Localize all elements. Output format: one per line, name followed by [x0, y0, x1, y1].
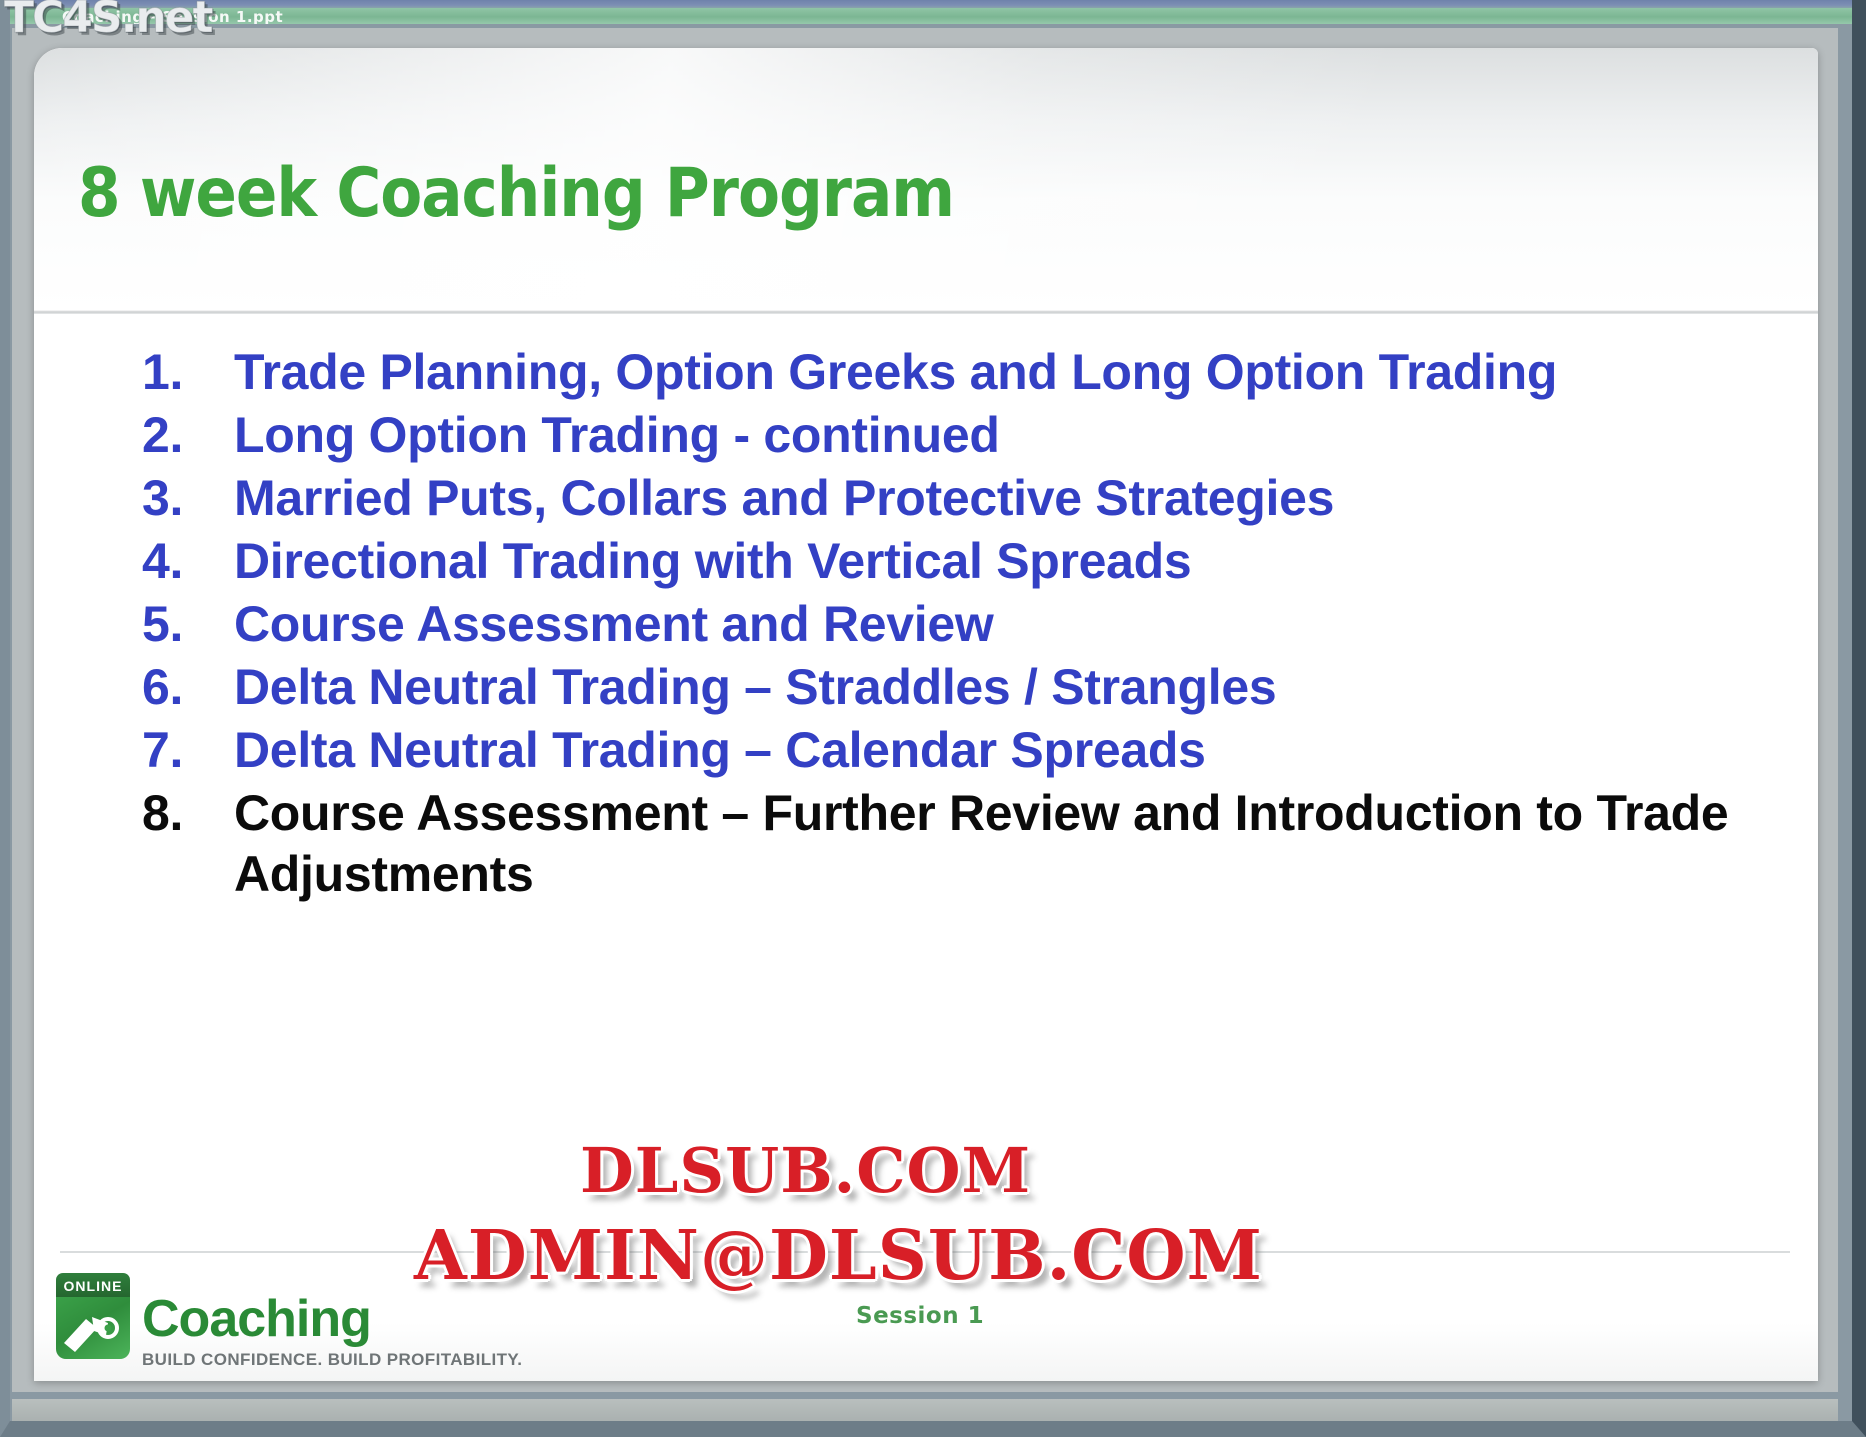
- watermark-email: ADMIN@DLSUB.COM: [414, 1216, 1263, 1296]
- slide-bottom-strip: [12, 1399, 1838, 1421]
- whistle-glyph: [56, 1297, 130, 1359]
- coaching-logo-icon: ONLINE: [56, 1273, 130, 1359]
- agenda-item-number: 2.: [142, 405, 234, 466]
- agenda-item-text: Married Puts, Collars and Protective Str…: [234, 468, 1762, 529]
- logo-whistle-icon: [56, 1297, 130, 1359]
- slide-title: 8 week Coaching Program: [78, 154, 954, 233]
- presentation-window: Coaching - Session 1.ppt TC4S.net 8 week…: [0, 0, 1866, 1437]
- agenda-item-number: 7.: [142, 720, 234, 781]
- agenda-item-number: 6.: [142, 657, 234, 718]
- agenda-item-number: 3.: [142, 468, 234, 529]
- agenda-item-number: 1.: [142, 342, 234, 403]
- agenda-item-number: 4.: [142, 531, 234, 592]
- agenda-item: 7.Delta Neutral Trading – Calendar Sprea…: [142, 720, 1762, 781]
- agenda-item-text: Directional Trading with Vertical Spread…: [234, 531, 1762, 592]
- agenda-item: 6.Delta Neutral Trading – Straddles / St…: [142, 657, 1762, 718]
- agenda-item-text: Course Assessment – Further Review and I…: [234, 783, 1762, 905]
- brand-name: Coaching: [142, 1293, 522, 1345]
- site-watermark: TC4S.net: [4, 0, 212, 43]
- agenda-item: 5.Course Assessment and Review: [142, 594, 1762, 655]
- agenda-item-text: Long Option Trading - continued: [234, 405, 1762, 466]
- agenda-item: 8.Course Assessment – Further Review and…: [142, 783, 1762, 905]
- window-title-bar: Coaching - Session 1.ppt: [0, 0, 1866, 24]
- agenda-item-text: Delta Neutral Trading – Straddles / Stra…: [234, 657, 1762, 718]
- session-label: Session 1: [856, 1303, 984, 1329]
- agenda-item-text: Trade Planning, Option Greeks and Long O…: [234, 342, 1762, 403]
- agenda-item: 2.Long Option Trading - continued: [142, 405, 1762, 466]
- agenda-item-number: 5.: [142, 594, 234, 655]
- agenda-item: 1.Trade Planning, Option Greeks and Long…: [142, 342, 1762, 403]
- agenda-list: 1.Trade Planning, Option Greeks and Long…: [142, 342, 1762, 907]
- agenda-item: 4.Directional Trading with Vertical Spre…: [142, 531, 1762, 592]
- logo-online-badge: ONLINE: [56, 1273, 130, 1299]
- watermark-domain: DLSUB.COM: [580, 1134, 1031, 1207]
- agenda-item-text: Delta Neutral Trading – Calendar Spreads: [234, 720, 1762, 781]
- brand-tagline: BUILD CONFIDENCE. BUILD PROFITABILITY.: [142, 1350, 522, 1370]
- agenda-item-text: Course Assessment and Review: [234, 594, 1762, 655]
- slide-canvas: 8 week Coaching Program 1.Trade Planning…: [34, 48, 1818, 1381]
- agenda-item-number: 8.: [142, 783, 234, 844]
- agenda-item: 3.Married Puts, Collars and Protective S…: [142, 468, 1762, 529]
